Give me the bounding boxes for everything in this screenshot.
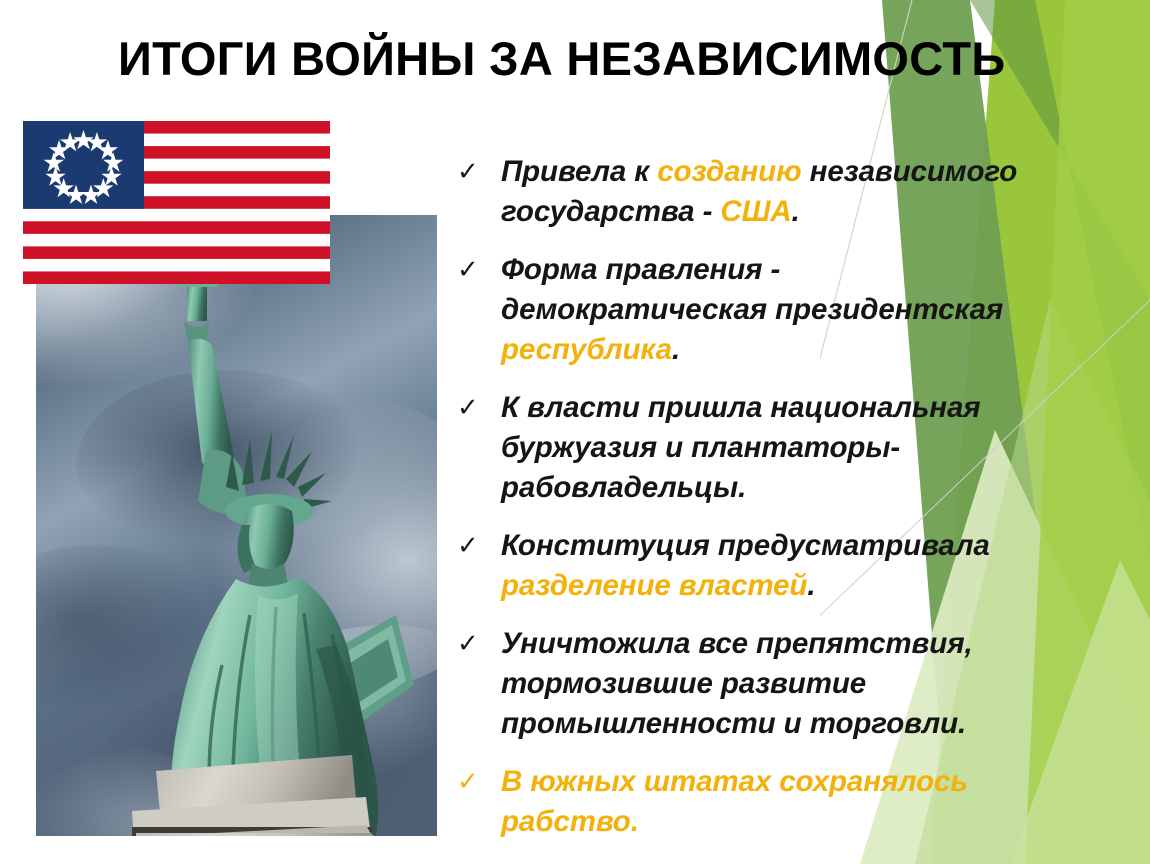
plain-text: К власти пришла национальная буржуазия и… [501, 391, 981, 504]
presentation-slide: ИТОГИ ВОЙНЫ ЗА НЕЗАВИСИМОСТЬ [0, 0, 1150, 864]
bullet-list: ✓Привела к созданию независимого государ… [452, 152, 1052, 860]
plain-text: . [792, 195, 800, 228]
plain-text: . [807, 569, 815, 602]
list-item-text: Конституция предусматривала разделение в… [501, 526, 1052, 606]
list-item-text: Привела к созданию независимого государс… [501, 152, 1052, 232]
highlighted-term: созданию [657, 155, 801, 188]
checkmark-icon: ✓ [452, 762, 501, 802]
list-item: ✓Форма правления - демократическая прези… [452, 250, 1052, 370]
plain-text: Привела к [501, 155, 657, 188]
list-item: ✓ К власти пришла национальная буржуазия… [452, 388, 1052, 508]
page-title: ИТОГИ ВОЙНЫ ЗА НЕЗАВИСИМОСТЬ [118, 34, 1048, 83]
highlighted-term: разделение властей [501, 569, 807, 602]
list-item: ✓Уничтожила все препятствия, тормозившие… [452, 624, 1052, 744]
list-item: ✓Привела к созданию независимого государ… [452, 152, 1052, 232]
list-item-text: Уничтожила все препятствия, тормозившие … [501, 624, 1052, 744]
plain-text: . [672, 333, 680, 366]
pedestal-right-quoin [334, 835, 374, 836]
checkmark-icon: ✓ [452, 250, 501, 290]
highlighted-term: США [720, 195, 791, 228]
highlighted-term: республика [501, 333, 672, 366]
checkmark-icon: ✓ [452, 624, 501, 664]
list-item: ✓Конституция предусматривала разделение … [452, 526, 1052, 606]
checkmark-icon: ✓ [452, 526, 501, 566]
plain-text: Конституция предусматривала [501, 529, 990, 562]
torch-handle [187, 287, 207, 321]
betsy-ross-flag [23, 121, 330, 284]
plain-text: Форма правления - демократическая презид… [501, 253, 1003, 326]
checkmark-icon: ✓ [452, 388, 501, 428]
list-item-text: К власти пришла национальная буржуазия и… [501, 388, 1052, 508]
checkmark-icon: ✓ [452, 152, 501, 192]
statue-of-liberty-photo [36, 215, 437, 836]
list-item: ✓В южных штатах сохранялось рабство. [452, 762, 1052, 842]
list-item-text: В южных штатах сохранялось рабство. [501, 762, 1052, 842]
plain-text: В южных штатах сохранялось рабство. [501, 765, 968, 838]
list-item-text: Форма правления - демократическая презид… [501, 250, 1052, 370]
plain-text: Уничтожила все препятствия, тормозившие … [501, 627, 973, 740]
